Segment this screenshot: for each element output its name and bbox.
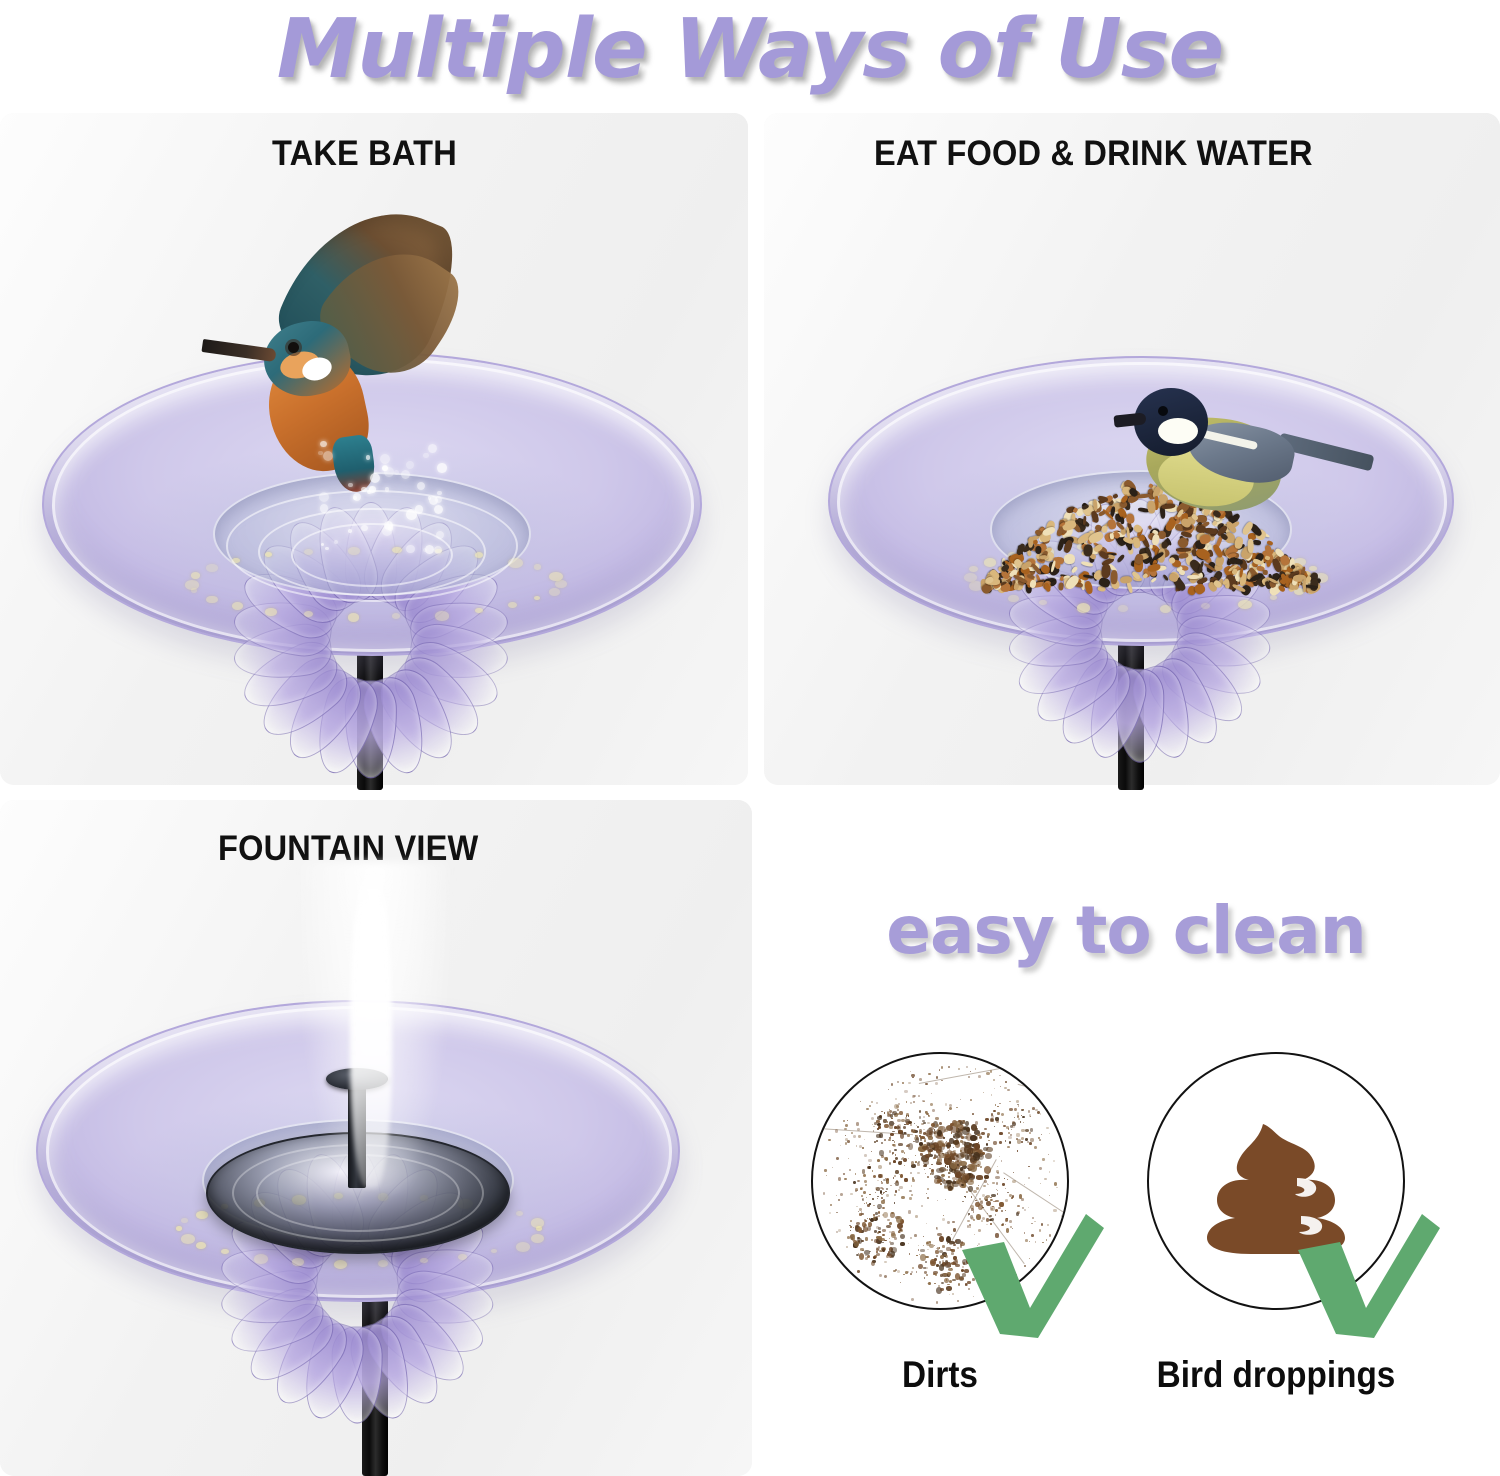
dirt-speck	[1017, 1112, 1019, 1114]
dirt-speck	[878, 1215, 880, 1217]
dirt-speck	[1013, 1172, 1014, 1173]
dirt-speck	[892, 1152, 894, 1154]
dirt-speck	[988, 1283, 989, 1284]
dirt-speck	[858, 1135, 861, 1138]
seed	[1071, 566, 1078, 574]
dirt-speck	[976, 1165, 977, 1166]
water-droplet	[437, 463, 446, 472]
water-droplet	[370, 473, 380, 483]
dirt-speck	[886, 1180, 889, 1184]
dirt-speck	[995, 1104, 997, 1106]
dirt-speck	[869, 1105, 871, 1107]
dirt-speck	[966, 1252, 970, 1255]
dirt-speck	[865, 1237, 868, 1240]
dirt-speck	[823, 1192, 825, 1194]
dirt-speck	[1031, 1223, 1033, 1225]
dirt-speck	[940, 1288, 944, 1291]
dirt-speck	[990, 1197, 991, 1198]
dirt-speck	[907, 1271, 909, 1273]
dirt-speck	[913, 1095, 915, 1097]
dirt-speck	[899, 1174, 900, 1175]
seed	[1056, 528, 1062, 535]
dirt-speck	[1041, 1134, 1042, 1135]
dirt-speck	[936, 1255, 938, 1257]
dirt-speck	[956, 1107, 957, 1108]
dirt-speck	[909, 1197, 911, 1200]
dirt-speck	[1012, 1195, 1015, 1198]
dirt-speck	[904, 1165, 905, 1166]
dirt-speck	[928, 1282, 930, 1285]
dirt-speck	[923, 1165, 925, 1167]
dirt-speck	[993, 1110, 996, 1112]
dirt-speck	[894, 1149, 897, 1151]
dirt-speck	[1001, 1210, 1003, 1211]
bird-eye	[288, 342, 299, 353]
dirt-speck	[967, 1179, 974, 1185]
dirt-speck	[1029, 1241, 1030, 1242]
dirt-speck	[884, 1139, 886, 1141]
dirt-speck	[1005, 1188, 1006, 1190]
dirt-speck	[984, 1166, 992, 1174]
dirt-speck	[1025, 1239, 1028, 1242]
dirt-speck	[877, 1196, 878, 1197]
dirt-speck	[829, 1212, 831, 1214]
dirt-speck	[826, 1175, 827, 1176]
dirt-speck	[923, 1122, 925, 1124]
dirt-speck	[948, 1287, 951, 1290]
dirt-speck	[953, 1147, 954, 1148]
bowl-dot	[196, 1211, 208, 1219]
dirt-speck	[857, 1180, 860, 1182]
seed	[1117, 553, 1126, 562]
dirt-speck	[912, 1267, 914, 1269]
dirt-speck	[974, 1234, 975, 1235]
seed	[1178, 569, 1185, 575]
dirt-speck	[997, 1106, 999, 1108]
dirt-speck	[904, 1090, 907, 1093]
water-droplet	[348, 483, 353, 488]
dirt-speck	[942, 1245, 945, 1248]
dirt-speck	[942, 1218, 945, 1221]
dirt-speck	[871, 1261, 875, 1266]
dirt-speck	[1025, 1129, 1029, 1132]
dirt-speck	[1039, 1229, 1042, 1232]
water-droplet	[334, 540, 338, 544]
dirt-speck	[985, 1260, 987, 1262]
dirt-speck	[865, 1255, 866, 1256]
dirt-speck	[973, 1219, 975, 1221]
dirt-speck	[947, 1167, 948, 1168]
dirt-speck	[879, 1274, 882, 1277]
dirt-speck	[897, 1081, 899, 1083]
dirt-speck	[944, 1278, 949, 1283]
dirt-speck	[840, 1193, 843, 1196]
dirt-speck	[989, 1215, 992, 1217]
dirt-speck	[927, 1176, 929, 1178]
dirt-speck	[995, 1209, 998, 1212]
dirt-speck	[1001, 1113, 1004, 1116]
dirt-speck	[881, 1111, 882, 1112]
dirt-speck	[872, 1170, 874, 1172]
dirt-speck	[1024, 1232, 1025, 1233]
dirt-speck	[1044, 1178, 1047, 1181]
dirt-speck	[913, 1141, 915, 1142]
dirt-speck	[999, 1141, 1002, 1144]
bowl-dot	[292, 1258, 304, 1266]
dirt-speck	[1024, 1209, 1026, 1211]
dirt-speck	[1006, 1218, 1007, 1219]
dirt-speck	[836, 1231, 837, 1232]
dirt-speck	[869, 1194, 872, 1196]
dirt-speck	[1008, 1128, 1010, 1129]
dirt-speck	[889, 1110, 892, 1113]
dirt-speck	[856, 1254, 859, 1256]
dirt-speck	[876, 1226, 879, 1229]
dirt-speck	[853, 1227, 854, 1228]
dirt-speck	[983, 1185, 986, 1188]
dirt-speck	[995, 1117, 999, 1120]
dirt-speck	[917, 1172, 919, 1174]
dirt-speck	[836, 1212, 838, 1214]
dirt-speck	[881, 1251, 882, 1252]
dirt-speck	[878, 1165, 882, 1169]
clean-item-dirts: Dirts	[800, 1052, 1080, 1396]
dirt-speck	[886, 1225, 891, 1228]
dirt-speck	[1007, 1192, 1009, 1194]
dirt-speck	[973, 1157, 975, 1159]
dirt-speck	[898, 1231, 900, 1233]
dirt-speck	[935, 1273, 937, 1275]
dirt-speck	[893, 1270, 895, 1272]
dirt-speck	[948, 1187, 952, 1191]
dirt-speck	[918, 1095, 920, 1097]
bowl-dot	[534, 596, 541, 601]
dirt-speck	[970, 1135, 976, 1141]
dirt-speck	[928, 1149, 933, 1152]
dirt-speck	[1017, 1205, 1020, 1207]
dirt-speck	[1040, 1183, 1041, 1184]
dirt-speck	[999, 1132, 1003, 1135]
dirt-speck	[976, 1194, 977, 1195]
dirt-speck	[972, 1278, 975, 1281]
dirt-speck	[949, 1172, 951, 1174]
water-droplet	[423, 453, 428, 458]
dirt-speck	[970, 1071, 971, 1072]
dirt-speck	[1004, 1178, 1005, 1180]
water-droplet	[406, 545, 414, 553]
dirt-speck	[941, 1282, 944, 1284]
dirt-speck	[962, 1266, 964, 1268]
dirt-speck	[1049, 1234, 1051, 1236]
seed	[1303, 579, 1307, 592]
dirt-speck	[971, 1124, 978, 1131]
dirt-speck	[960, 1127, 963, 1129]
dirt-speck	[900, 1174, 903, 1178]
dirt-speck	[895, 1154, 896, 1156]
dirt-speck	[925, 1173, 926, 1174]
dirt-speck	[836, 1157, 839, 1160]
dirt-speck	[902, 1082, 904, 1084]
seed	[1263, 570, 1268, 575]
dirt-crack	[1060, 1215, 1069, 1294]
dirt-speck	[850, 1220, 852, 1222]
dirt-speck	[967, 1180, 968, 1181]
dirt-speck	[966, 1191, 968, 1193]
dirt-speck	[930, 1103, 933, 1106]
water-droplet	[417, 482, 425, 490]
dirt-speck	[911, 1161, 915, 1165]
dirt-speck	[911, 1298, 914, 1301]
dirt-speck	[942, 1144, 947, 1147]
dirt-speck	[926, 1274, 928, 1276]
dirt-speck	[873, 1205, 874, 1206]
dirt-speck	[986, 1072, 989, 1075]
dirt-speck	[889, 1125, 892, 1128]
dirt-speck	[918, 1264, 923, 1269]
dirt-speck	[1054, 1182, 1057, 1185]
dirt-speck	[1016, 1274, 1017, 1275]
dirt-speck	[1022, 1116, 1025, 1118]
dirt-speck	[973, 1190, 977, 1193]
dirt-speck	[993, 1248, 995, 1250]
dirt-speck	[993, 1141, 997, 1145]
dirt-speck	[944, 1273, 946, 1275]
dirt-speck	[988, 1140, 989, 1141]
dirt-speck	[882, 1137, 883, 1138]
dirt-speck	[900, 1242, 905, 1246]
dirt-speck	[884, 1112, 886, 1113]
dirt-speck	[939, 1236, 944, 1242]
dirt-speck	[920, 1249, 924, 1252]
dirt-speck	[981, 1220, 983, 1222]
dirt-speck	[910, 1071, 911, 1072]
dirt-speck	[911, 1194, 913, 1196]
dirt-speck	[1049, 1133, 1050, 1134]
dirt-speck	[924, 1277, 926, 1279]
dirt-speck	[908, 1158, 909, 1159]
bowl-dot	[491, 1249, 497, 1253]
dirt-speck	[925, 1261, 927, 1263]
dirt-speck	[978, 1075, 981, 1078]
dirt-speck	[851, 1132, 853, 1134]
dirt-speck	[988, 1184, 989, 1185]
dirt-speck	[949, 1294, 950, 1295]
dirt-speck	[975, 1121, 978, 1124]
dirt-speck	[838, 1229, 841, 1232]
dirt-speck	[978, 1243, 980, 1245]
dirt-speck	[866, 1108, 868, 1110]
dirt-speck	[874, 1141, 876, 1143]
dirt-speck	[885, 1157, 888, 1161]
dirt-speck	[960, 1099, 961, 1100]
dirt-speck	[1007, 1146, 1010, 1148]
dirt-speck	[846, 1246, 848, 1248]
dirt-speck	[896, 1105, 899, 1108]
dirt-speck	[876, 1120, 879, 1123]
dirt-speck	[925, 1154, 929, 1158]
dirt-speck	[989, 1219, 992, 1222]
dirt-speck	[1053, 1209, 1056, 1212]
dirt-speck	[951, 1234, 952, 1235]
dirt-speck	[889, 1238, 890, 1239]
bird-cheek	[1158, 418, 1198, 444]
dirt-speck	[1053, 1160, 1055, 1162]
dirt-speck	[888, 1139, 890, 1141]
dirt-speck	[934, 1258, 937, 1261]
dirt-speck	[893, 1112, 894, 1113]
dirt-speck	[994, 1126, 995, 1127]
dirt-speck	[1002, 1121, 1003, 1123]
dirt-speck	[1008, 1136, 1011, 1139]
dirt-speck	[986, 1201, 991, 1206]
dirt-speck	[860, 1101, 861, 1102]
dirt-speck	[896, 1216, 902, 1223]
dirt-speck	[857, 1270, 860, 1273]
dirt-speck	[894, 1123, 895, 1124]
dirt-speck	[1014, 1117, 1015, 1118]
dirt-speck	[1041, 1223, 1043, 1225]
dirt-speck	[924, 1138, 925, 1140]
dirt-speck	[910, 1102, 911, 1103]
easy-to-clean-title: easy to clean	[752, 888, 1500, 974]
dirt-speck	[875, 1192, 876, 1193]
dirt-speck	[897, 1119, 900, 1122]
dirt-speck	[937, 1233, 942, 1237]
dirt-speck	[955, 1172, 962, 1178]
seed	[1146, 562, 1161, 572]
dirt-speck	[904, 1178, 907, 1182]
dirt-speck	[878, 1174, 882, 1178]
great-tit-bird	[1118, 378, 1388, 528]
dirt-speck	[980, 1257, 981, 1258]
bowl-dot	[1118, 605, 1128, 612]
dirt-speck	[1042, 1158, 1045, 1161]
bowl-dot	[534, 564, 542, 569]
dirt-speck	[1023, 1122, 1024, 1123]
dirt-speck	[849, 1169, 851, 1171]
water-droplet	[361, 525, 367, 531]
dirt-speck	[1002, 1262, 1005, 1265]
dirt-speck	[885, 1191, 886, 1192]
dirt-speck	[949, 1241, 953, 1245]
dirt-speck	[987, 1133, 990, 1136]
seed	[1248, 539, 1254, 553]
bowl-dot	[508, 602, 517, 608]
dirt-crack	[1003, 1173, 1069, 1250]
dirt-speck	[937, 1130, 942, 1136]
dirt-speck	[919, 1129, 922, 1132]
dirt-speck	[864, 1139, 866, 1141]
dirt-speck	[1029, 1114, 1031, 1116]
dirt-speck	[870, 1166, 871, 1167]
bowl-dot	[196, 1242, 205, 1249]
dirt-speck	[959, 1277, 964, 1280]
dirt-speck	[963, 1168, 965, 1170]
dirt-speck	[1049, 1171, 1051, 1173]
dirt-speck	[850, 1230, 851, 1231]
dirt-speck	[863, 1191, 866, 1194]
dirt-speck	[874, 1113, 876, 1115]
dirt-speck	[848, 1158, 849, 1159]
dirt-speck	[902, 1157, 904, 1159]
dirt-speck	[996, 1182, 999, 1185]
dirt-speck	[868, 1159, 871, 1162]
dirt-speck	[997, 1193, 999, 1195]
dirt-speck	[947, 1221, 950, 1224]
dirt-speck	[946, 1247, 950, 1251]
bowl-dot	[334, 1260, 347, 1269]
dirt-speck	[897, 1113, 899, 1115]
dirt-speck	[994, 1088, 995, 1089]
dirt-speck	[937, 1159, 940, 1162]
dirt-speck	[1046, 1127, 1048, 1129]
dirt-speck	[999, 1103, 1001, 1104]
dirt-speck	[924, 1169, 925, 1170]
dirt-crack	[1017, 1084, 1057, 1096]
dirt-speck	[865, 1184, 867, 1186]
water-droplet	[325, 547, 328, 550]
dirt-speck	[941, 1066, 943, 1068]
dirt-speck	[923, 1132, 926, 1135]
dirt-speck	[912, 1077, 914, 1079]
dirt-speck	[958, 1068, 960, 1070]
bowl-dot	[232, 602, 243, 610]
dirt-speck	[883, 1193, 884, 1194]
dirt-speck	[843, 1173, 844, 1174]
dirt-speck	[991, 1289, 992, 1290]
dirt-speck	[957, 1167, 959, 1169]
dirt-speck	[910, 1172, 912, 1174]
water-droplet	[406, 461, 414, 469]
dirt-speck	[1056, 1187, 1057, 1188]
dirt-speck	[880, 1190, 883, 1193]
dirt-speck	[932, 1109, 935, 1112]
bowl-dot	[531, 1218, 544, 1227]
dirt-speck	[981, 1178, 983, 1180]
dirt-speck	[918, 1249, 919, 1251]
dirt-speck	[923, 1245, 925, 1247]
dirt-speck	[945, 1169, 947, 1171]
dirt-speck	[900, 1282, 901, 1283]
dirt-speck	[878, 1211, 880, 1214]
dirt-speck	[957, 1300, 958, 1301]
dirt-speck	[925, 1267, 928, 1270]
dirt-speck	[1016, 1100, 1019, 1103]
dirt-speck	[1028, 1177, 1030, 1179]
dirt-speck	[913, 1131, 915, 1133]
dirt-speck	[898, 1189, 900, 1191]
dirt-speck	[853, 1181, 856, 1184]
dirt-speck	[836, 1195, 837, 1196]
dirt-speck	[871, 1239, 874, 1241]
dirt-speck	[928, 1115, 930, 1117]
panel-title-eat-food: EAT FOOD & DRINK WATER	[874, 134, 1313, 174]
dirt-speck	[991, 1208, 993, 1210]
water-droplet	[394, 470, 399, 475]
dirt-speck	[894, 1141, 896, 1143]
bowl-dot	[969, 566, 978, 572]
dirt-speck	[926, 1193, 927, 1194]
dirt-speck	[935, 1082, 938, 1085]
dirt-speck	[906, 1101, 907, 1103]
dirt-speck	[828, 1139, 831, 1142]
seed	[1101, 564, 1111, 579]
dirt-speck	[980, 1136, 981, 1137]
bowl-dot	[458, 1254, 466, 1260]
dirt-speck	[908, 1210, 911, 1213]
dirt-speck	[907, 1134, 911, 1137]
bowl-dot	[420, 1258, 428, 1264]
